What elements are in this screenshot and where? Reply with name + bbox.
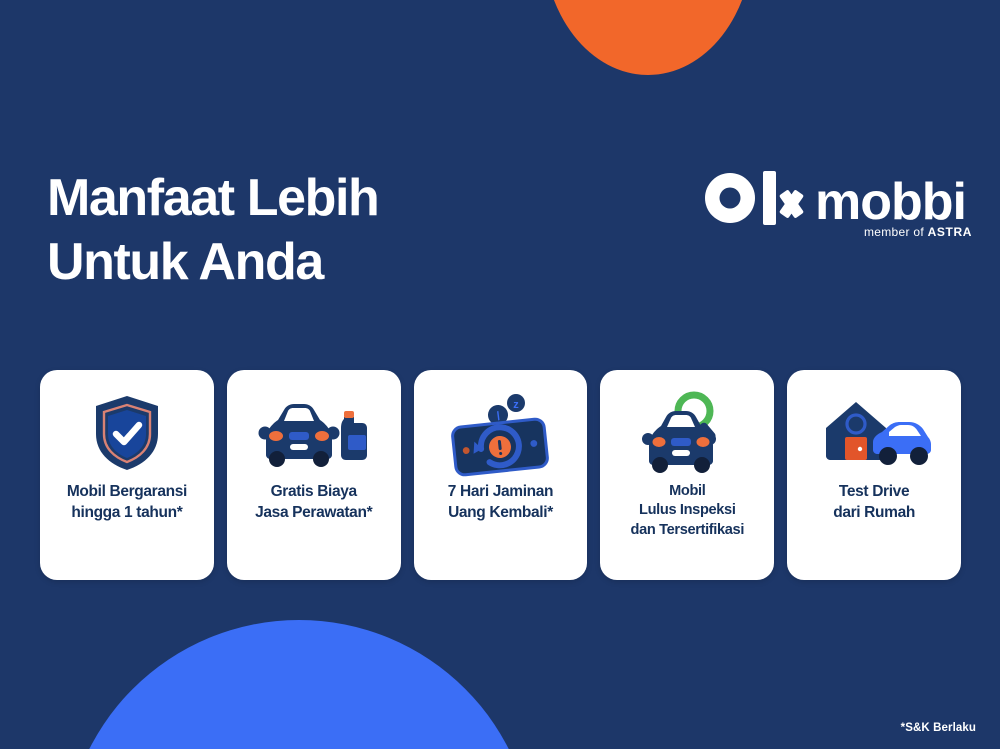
benefit-card-label: Gratis Biaya Jasa Perawatan* xyxy=(251,482,376,523)
home-test-drive-icon xyxy=(816,396,932,470)
benefit-card-label: Mobil Bergaransi hingga 1 tahun* xyxy=(63,482,191,523)
card-icon-wrapper: z / xyxy=(422,384,580,482)
svg-text:z: z xyxy=(514,399,520,411)
logo-tagline-prefix: member of xyxy=(864,225,928,239)
benefit-card-money-back[interactable]: z / xyxy=(414,370,588,580)
promo-banner: Manfaat Lebih Untuk Anda mobbi member of… xyxy=(0,0,1000,749)
car-oil-service-icon xyxy=(256,397,372,469)
blue-circle-decoration xyxy=(64,620,534,749)
benefit-card-label: Test Drive dari Rumah xyxy=(829,482,919,523)
footnote-terms: *S&K Berlaku xyxy=(901,722,976,734)
shield-check-icon xyxy=(90,392,164,474)
svg-text:mobbi: mobbi xyxy=(815,173,966,225)
card-icon-wrapper xyxy=(48,384,206,482)
card-icon-wrapper xyxy=(795,384,953,482)
logo-tagline-brand: ASTRA xyxy=(928,225,972,239)
orange-circle-decoration xyxy=(543,0,753,75)
benefit-card-inspection[interactable]: Mobil Lulus Inspeksi dan Tersertifikasi xyxy=(600,370,774,580)
benefit-card-label: 7 Hari Jaminan Uang Kembali* xyxy=(444,482,557,523)
logo-wordmark: mobbi xyxy=(702,172,974,224)
card-icon-wrapper xyxy=(608,384,766,482)
money-back-icon: z / xyxy=(444,389,556,477)
benefit-card-warranty[interactable]: Mobil Bergaransi hingga 1 tahun* xyxy=(40,370,214,580)
card-icon-wrapper xyxy=(235,384,393,482)
headline-line-2: Untuk Anda xyxy=(47,233,323,291)
olxmobbi-logo-icon: mobbi xyxy=(702,171,974,225)
page-title: Manfaat Lebih Untuk Anda xyxy=(47,167,378,295)
benefit-card-free-service[interactable]: Gratis Biaya Jasa Perawatan* xyxy=(227,370,401,580)
brand-logo: mobbi member of ASTRA xyxy=(702,172,974,248)
headline-line-1: Manfaat Lebih xyxy=(47,169,378,227)
logo-tagline: member of ASTRA xyxy=(702,225,974,239)
benefit-card-label: Mobil Lulus Inspeksi dan Tersertifikasi xyxy=(627,482,748,540)
car-inspection-magnifier-icon xyxy=(639,389,735,477)
benefits-card-list: Mobil Bergaransi hingga 1 tahun* xyxy=(40,370,961,580)
benefit-card-home-test-drive[interactable]: Test Drive dari Rumah xyxy=(787,370,961,580)
